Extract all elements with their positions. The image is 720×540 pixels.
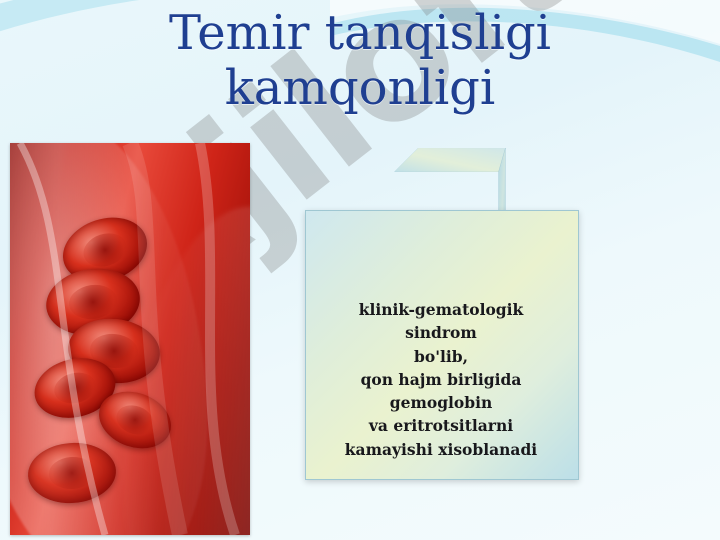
cube-text-line-6: va eritrotsitlarni (313, 414, 569, 437)
page-title: Temir tanqisligi kamqonligi (60, 6, 660, 116)
cube-text-line-3: bo'lib, (313, 345, 569, 368)
slide-canvas: Ajiloft24 Temir tanqisligi kamqonligi (0, 0, 720, 540)
cube-text-line-1: klinik-gematologik (313, 298, 569, 321)
cube-text-block: klinik-gematologik sindrom bo'lib, qon h… (313, 298, 569, 461)
blood-vessel-image (10, 143, 250, 535)
cube-text-line-5: gemoglobin (313, 391, 569, 414)
cube-text-line-4: qon hajm birligida (313, 368, 569, 391)
cube-text-line-2: sindrom (313, 321, 569, 344)
cube-text-line-7: kamayishi xisoblanadi (313, 438, 569, 461)
vessel-outline-icon (10, 143, 250, 535)
content-cube: klinik-gematologik sindrom bo'lib, qon h… (305, 148, 595, 478)
